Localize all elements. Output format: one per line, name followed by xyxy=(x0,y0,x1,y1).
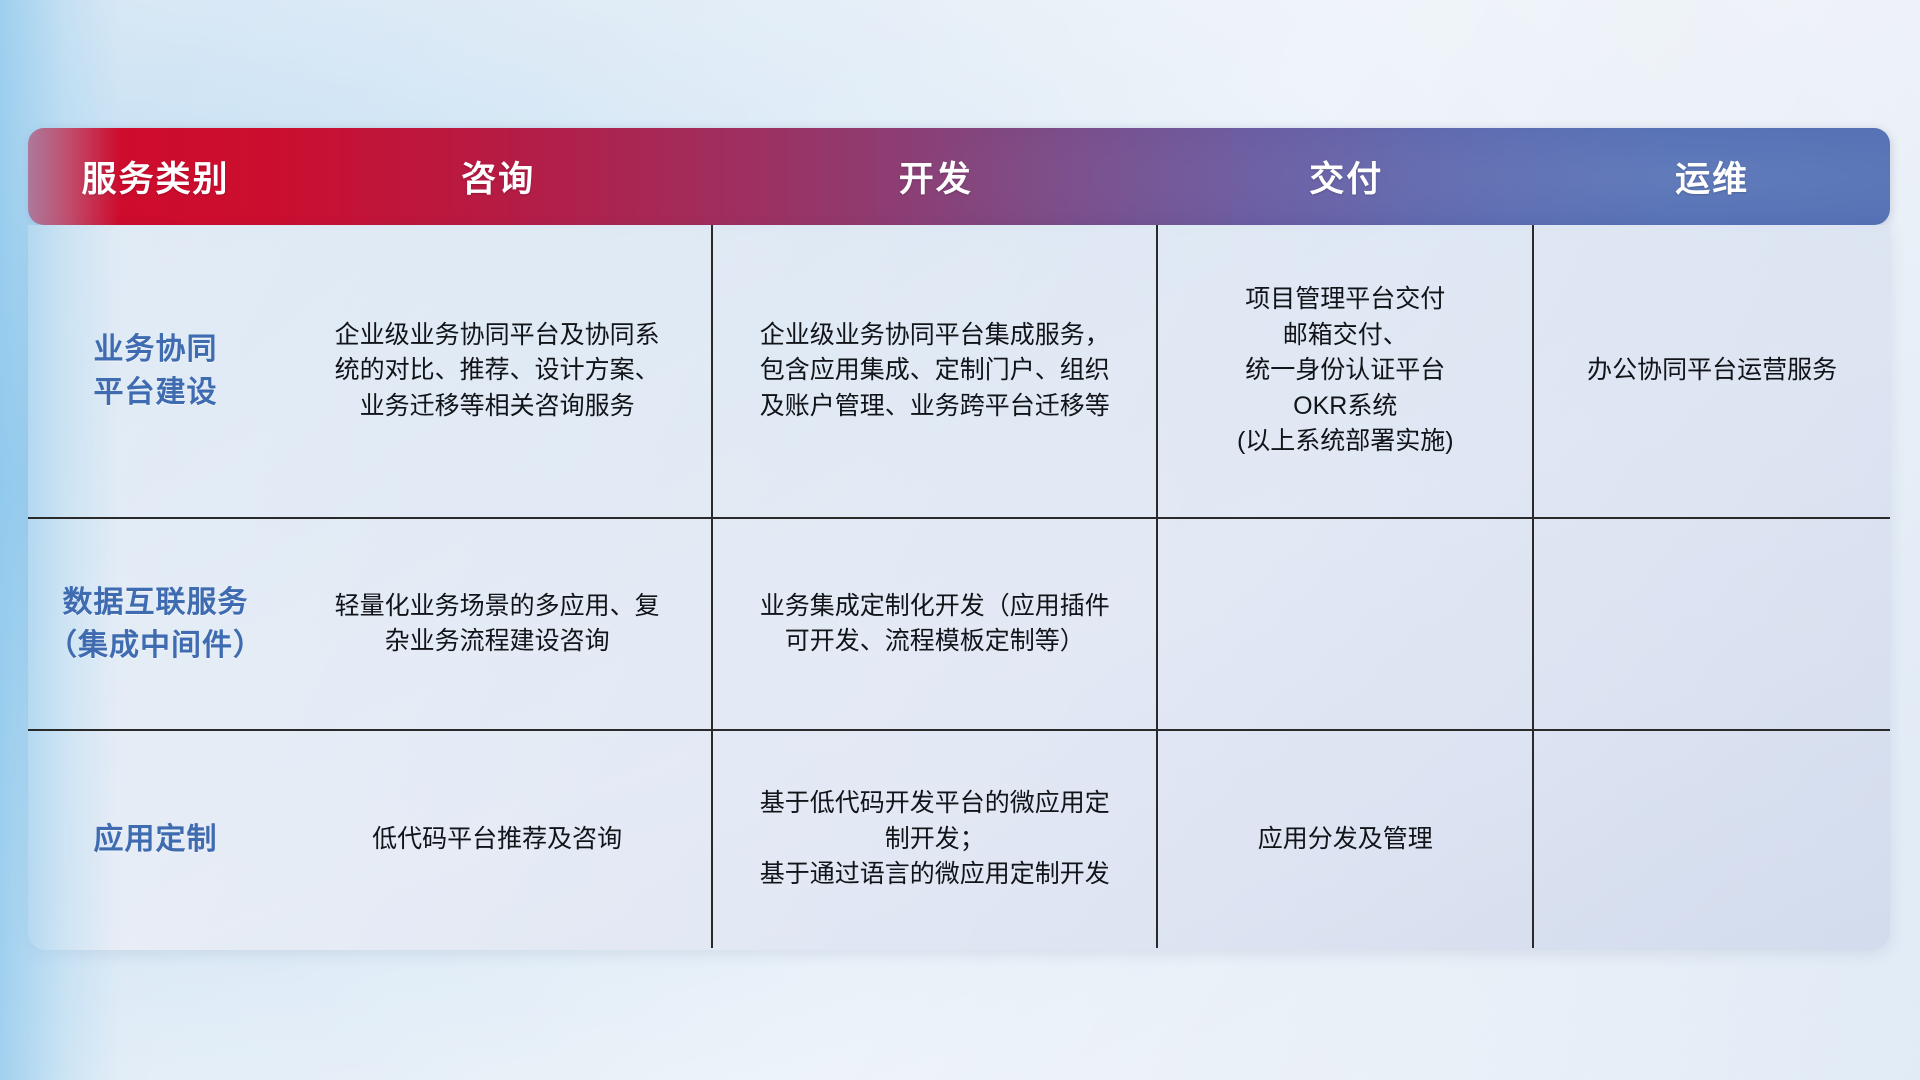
table-row: 业务协同 平台建设 企业级业务协同平台及协同系 统的对比、推荐、设计方案、 业务… xyxy=(28,225,1890,517)
column-header-development: 开发 xyxy=(713,151,1158,202)
service-matrix-table: 服务类别 咨询 开发 交付 运维 业务协同 平台建设 企业级业务协同平台及协同系… xyxy=(28,128,1890,950)
cell-consulting: 企业级业务协同平台及协同系 统的对比、推荐、设计方案、 业务迁移等相关咨询服务 xyxy=(283,225,713,517)
cell-operations xyxy=(1534,519,1890,729)
column-header-category: 服务类别 xyxy=(28,151,283,202)
column-header-operations: 运维 xyxy=(1534,151,1890,202)
cell-category: 业务协同 平台建设 xyxy=(28,225,283,517)
table-body: 业务协同 平台建设 企业级业务协同平台及协同系 统的对比、推荐、设计方案、 业务… xyxy=(28,225,1890,950)
cell-delivery: 项目管理平台交付 邮箱交付、 统一身份认证平台 OKR系统 (以上系统部署实施) xyxy=(1158,225,1534,517)
cell-operations xyxy=(1534,731,1890,948)
table-header-row: 服务类别 咨询 开发 交付 运维 xyxy=(28,128,1890,225)
cell-operations: 办公协同平台运营服务 xyxy=(1534,225,1890,517)
table-row: 数据互联服务 （集成中间件） 轻量化业务场景的多应用、复 杂业务流程建设咨询 业… xyxy=(28,517,1890,729)
slide-canvas: 服务类别 咨询 开发 交付 运维 业务协同 平台建设 企业级业务协同平台及协同系… xyxy=(0,0,1920,1080)
column-header-delivery: 交付 xyxy=(1158,151,1534,202)
cell-development: 基于低代码开发平台的微应用定 制开发； 基于通过语言的微应用定制开发 xyxy=(713,731,1158,948)
cell-consulting: 低代码平台推荐及咨询 xyxy=(283,731,713,948)
cell-delivery xyxy=(1158,519,1534,729)
cell-delivery: 应用分发及管理 xyxy=(1158,731,1534,948)
cell-consulting: 轻量化业务场景的多应用、复 杂业务流程建设咨询 xyxy=(283,519,713,729)
cell-development: 业务集成定制化开发（应用插件 可开发、流程模板定制等） xyxy=(713,519,1158,729)
cell-category: 应用定制 xyxy=(28,731,283,948)
column-header-consulting: 咨询 xyxy=(283,151,713,202)
cell-development: 企业级业务协同平台集成服务， 包含应用集成、定制门户、组织 及账户管理、业务跨平… xyxy=(713,225,1158,517)
table-row: 应用定制 低代码平台推荐及咨询 基于低代码开发平台的微应用定 制开发； 基于通过… xyxy=(28,729,1890,948)
cell-category: 数据互联服务 （集成中间件） xyxy=(28,519,283,729)
